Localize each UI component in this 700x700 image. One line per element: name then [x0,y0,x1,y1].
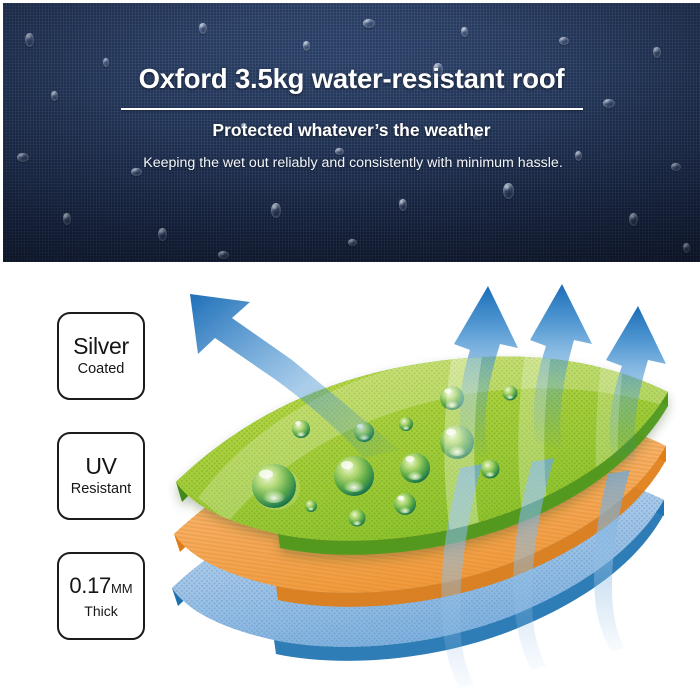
fabric-layers-illustration [168,272,700,692]
hero-subtitle: Protected whatever’s the weather [3,120,700,141]
water-droplet-icon [305,500,317,512]
water-droplet-icon [400,453,430,483]
water-droplet-icon [334,456,374,496]
hero-description: Keeping the wet out reliably and consist… [133,153,573,174]
badge-thickness-value: 0.17 [69,573,111,598]
badge-secondary-label: Resistant [71,480,131,498]
water-droplet-icon [481,460,500,479]
badge-secondary-label: Thick [84,602,117,620]
badge-primary-label: 0.17MM [69,573,132,601]
badge-primary-label: UV [85,454,116,479]
water-droplet-icon [292,420,310,438]
water-droplet-icon [349,510,366,527]
badge-primary-label: Silver [73,334,129,359]
page-title: Oxford 3.5kg water-resistant roof [3,63,700,95]
water-droplet-icon [399,417,413,431]
water-droplet-icon [394,493,416,515]
badge-thickness-unit: MM [111,581,133,596]
title-divider [121,108,583,110]
badge-secondary-label: Coated [78,360,125,378]
badge-thickness: 0.17MM Thick [57,552,145,640]
hero-banner: Oxford 3.5kg water-resistant roof Protec… [3,3,700,262]
badge-silver-coated: Silver Coated [57,312,145,400]
feature-badge-list: Silver Coated UV Resistant 0.17MM Thick [57,312,149,672]
product-feature-panel: Oxford 3.5kg water-resistant roof Protec… [0,0,700,700]
water-droplet-icon [503,386,518,401]
badge-uv-resistant: UV Resistant [57,432,145,520]
